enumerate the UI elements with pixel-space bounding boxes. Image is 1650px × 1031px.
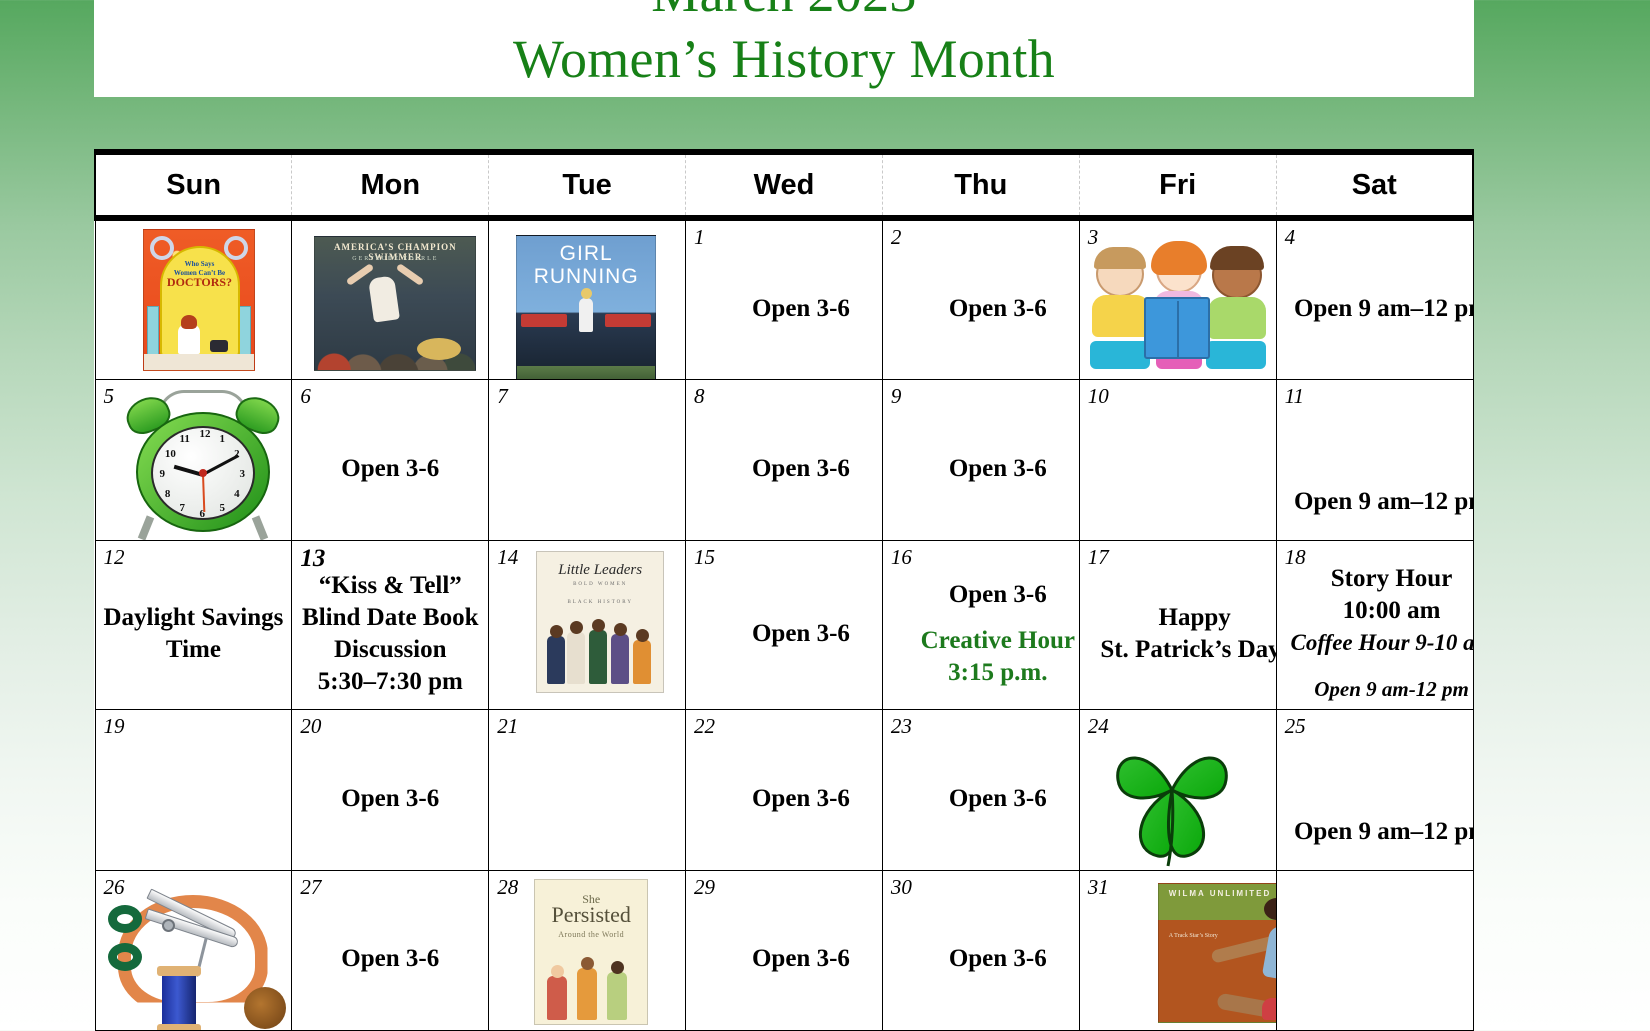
title-theme: Women’s History Month: [94, 26, 1474, 92]
event-text: Open 3-6: [752, 618, 850, 650]
day-number: 6: [300, 384, 311, 409]
weekday-header-sat: Sat: [1276, 152, 1473, 218]
weekday-header-fri: Fri: [1079, 152, 1276, 218]
calendar-day-cell-empty[interactable]: [1276, 870, 1473, 1031]
day-number: 5: [104, 384, 115, 409]
calendar-day-cell-19[interactable]: 19: [95, 709, 292, 870]
calendar-grid: SunMonTueWedThuFriSat Who SaysWomen Can’…: [94, 149, 1474, 1031]
day-events: Open 3-6: [883, 710, 1079, 870]
day-number: 12: [104, 545, 125, 570]
event-text: Open 3-6: [949, 579, 1047, 611]
calendar-day-cell-29[interactable]: 29Open 3-6: [686, 870, 883, 1031]
day-events: Open 9 am–12 pm: [1277, 221, 1473, 379]
calendar-day-cell-2[interactable]: 2Open 3-6: [882, 218, 1079, 379]
calendar-day-cell-11[interactable]: 11Open 9 am–12 pm: [1276, 379, 1473, 540]
day-number: 28: [497, 875, 518, 900]
event-text: Open 9 am-12 pm: [1314, 673, 1469, 705]
day-events: Open 3-6: [883, 871, 1079, 1031]
calendar-day-cell-31[interactable]: 31 WILMA UNLIMITEDA Track Star’s Story: [1079, 870, 1276, 1031]
day-events: Open 3-6: [883, 380, 1079, 540]
book-cover-who-says-women-cant-be-doctors: Who SaysWomen Can’t BeDOCTORS?: [143, 229, 255, 371]
event-text: Open 9 am–12 pm: [1294, 293, 1473, 325]
day-events: Open 3-6: [686, 541, 882, 709]
calendar-day-cell-12[interactable]: 12Daylight SavingsTime: [95, 540, 292, 709]
calendar-week-row: Who SaysWomen Can’t BeDOCTORS? AMERICA’S…: [95, 218, 1473, 379]
calendar-day-cell-25[interactable]: 25Open 9 am–12 pm: [1276, 709, 1473, 870]
event-text: Open 3-6: [341, 783, 439, 815]
event-text: Open 3-6: [752, 943, 850, 975]
event-text: Open 3-6: [949, 783, 1047, 815]
sewing-supplies-clipart: [100, 881, 292, 1031]
day-number: 17: [1088, 545, 1109, 570]
calendar-day-cell-8[interactable]: 8Open 3-6: [686, 379, 883, 540]
event-text: Open 3-6: [341, 453, 439, 485]
event-text: St. Patrick’s Day!: [1100, 634, 1276, 666]
calendar-day-cell-24[interactable]: 24: [1079, 709, 1276, 870]
event-text: Discussion: [334, 634, 447, 666]
day-events: Open 3-6: [686, 710, 882, 870]
day-number: 18: [1285, 545, 1306, 570]
day-number: 14: [497, 545, 518, 570]
calendar-day-cell-20[interactable]: 20Open 3-6: [292, 709, 489, 870]
day-number: 4: [1285, 225, 1296, 250]
calendar-day-cell-1[interactable]: 1Open 3-6: [686, 218, 883, 379]
event-text: Daylight Savings: [103, 602, 283, 634]
calendar-day-cell-14[interactable]: 14 Little Leaders BOLD WOMENBLACK HISTOR…: [489, 540, 686, 709]
event-text: 5:30–7:30 pm: [318, 666, 463, 698]
event-text: 10:00 am: [1343, 595, 1441, 627]
calendar-day-cell-7[interactable]: 7: [489, 379, 686, 540]
event-text: Open 3-6: [752, 783, 850, 815]
calendar-day-cell-4[interactable]: 4Open 9 am–12 pm: [1276, 218, 1473, 379]
day-events: Open 3-6: [292, 380, 488, 540]
day-events: Open 3-6: [883, 221, 1079, 379]
event-text: Open 9 am–12 pm: [1294, 816, 1473, 848]
day-events: Open 9 am–12 pm: [1277, 710, 1473, 870]
book-cover-americas-champion-swimmer: AMERICA’S CHAMPION SWIMMERGERTRUDE EDERL…: [314, 236, 476, 371]
event-text: “Kiss & Tell”: [319, 570, 462, 602]
calendar-day-cell-30[interactable]: 30Open 3-6: [882, 870, 1079, 1031]
day-number: 8: [694, 384, 705, 409]
day-number: 30: [891, 875, 912, 900]
day-number: 26: [104, 875, 125, 900]
calendar-day-cell-22[interactable]: 22Open 3-6: [686, 709, 883, 870]
day-number: 10: [1088, 384, 1109, 409]
day-number: 13: [300, 545, 325, 573]
calendar-week-row: 12Daylight SavingsTime13“Kiss & Tell”Bli…: [95, 540, 1473, 709]
weekday-header-wed: Wed: [686, 152, 883, 218]
kids-reading-clipart: [1086, 227, 1274, 375]
shamrock-clipart: [1092, 718, 1252, 868]
day-events: Open 3-6: [686, 221, 882, 379]
calendar-day-cell-21[interactable]: 21: [489, 709, 686, 870]
event-text: Open 3-6: [949, 453, 1047, 485]
day-number: 7: [497, 384, 508, 409]
calendar-day-cell-empty[interactable]: AMERICA’S CHAMPION SWIMMERGERTRUDE EDERL…: [292, 218, 489, 379]
calendar-day-cell-empty[interactable]: Who SaysWomen Can’t BeDOCTORS?: [95, 218, 292, 379]
calendar-day-cell-28[interactable]: 28 She Persisted Around the World: [489, 870, 686, 1031]
calendar-title-panel: March 2023 Women’s History Month: [94, 0, 1474, 97]
event-text: 3:15 p.m.: [948, 657, 1047, 689]
calendar-day-cell-26[interactable]: 26: [95, 870, 292, 1031]
event-text: Open 3-6: [949, 943, 1047, 975]
calendar-day-cell-16[interactable]: 16Open 3-6Creative Hour3:15 p.m.: [882, 540, 1079, 709]
book-cover-wilma-unlimited: WILMA UNLIMITEDA Track Star’s Story: [1158, 883, 1276, 1023]
alarm-clock-clipart: 121234567891011: [120, 388, 286, 538]
day-number: 9: [891, 384, 902, 409]
day-number: 24: [1088, 714, 1109, 739]
day-events: HappySt. Patrick’s Day!: [1080, 541, 1276, 709]
day-number: 2: [891, 225, 902, 250]
book-cover-she-persisted-around-the-world: She Persisted Around the World: [534, 879, 648, 1025]
event-text: Coffee Hour 9-10 am: [1290, 627, 1473, 659]
calendar-day-cell-27[interactable]: 27Open 3-6: [292, 870, 489, 1031]
event-text: Open 3-6: [752, 293, 850, 325]
calendar-day-cell-15[interactable]: 15Open 3-6: [686, 540, 883, 709]
event-text: Open 3-6: [949, 293, 1047, 325]
day-number: 29: [694, 875, 715, 900]
day-events: Open 3-6: [292, 871, 488, 1031]
day-number: 3: [1088, 225, 1099, 250]
day-number: 31: [1088, 875, 1109, 900]
day-number: 22: [694, 714, 715, 739]
book-cover-girl-running: GIRLRUNNING: [516, 235, 656, 379]
weekday-header-sun: Sun: [95, 152, 292, 218]
event-text: Happy: [1159, 602, 1231, 634]
calendar-day-cell-5[interactable]: 5 121234567891011: [95, 379, 292, 540]
day-number: 20: [300, 714, 321, 739]
event-text: Time: [166, 634, 221, 666]
calendar-day-cell-empty[interactable]: GIRLRUNNING: [489, 218, 686, 379]
day-number: 19: [104, 714, 125, 739]
weekday-header-thu: Thu: [882, 152, 1079, 218]
event-text: Open 3-6: [341, 943, 439, 975]
calendar-day-cell-6[interactable]: 6Open 3-6: [292, 379, 489, 540]
calendar-day-cell-13[interactable]: 13“Kiss & Tell”Blind Date BookDiscussion…: [292, 540, 489, 709]
day-number: 1: [694, 225, 705, 250]
day-number: 16: [891, 545, 912, 570]
calendar-day-cell-18[interactable]: 18Story Hour10:00 amCoffee Hour 9-10 amO…: [1276, 540, 1473, 709]
weekday-header-mon: Mon: [292, 152, 489, 218]
day-events: Open 3-6: [686, 871, 882, 1031]
calendar-week-row: 26 27Open 3-628 She Persisted Around the…: [95, 870, 1473, 1031]
day-number: 21: [497, 714, 518, 739]
day-number: 11: [1285, 384, 1304, 409]
day-number: 23: [891, 714, 912, 739]
event-text: Open 3-6: [752, 453, 850, 485]
day-events: Open 9 am–12 pm: [1277, 380, 1473, 540]
event-text: Creative Hour: [921, 625, 1075, 657]
day-events: Open 3-6: [292, 710, 488, 870]
event-text: Open 9 am–12 pm: [1294, 486, 1473, 518]
calendar-body: Who SaysWomen Can’t BeDOCTORS? AMERICA’S…: [95, 218, 1473, 1031]
event-text: Story Hour: [1331, 563, 1453, 595]
calendar-day-cell-10[interactable]: 10: [1079, 379, 1276, 540]
day-number: 15: [694, 545, 715, 570]
weekday-header-tue: Tue: [489, 152, 686, 218]
day-number: 25: [1285, 714, 1306, 739]
calendar-week-row: 1920Open 3-62122Open 3-623Open 3-624 25O…: [95, 709, 1473, 870]
event-text: Blind Date Book: [302, 602, 478, 634]
calendar-weekday-header-row: SunMonTueWedThuFriSat: [95, 152, 1473, 218]
day-events: Open 3-6: [686, 380, 882, 540]
calendar-week-row: 5 121234567891011 6Open 3-678Open 3-69Op…: [95, 379, 1473, 540]
day-events: Open 3-6Creative Hour3:15 p.m.: [883, 541, 1079, 709]
calendar-day-cell-17[interactable]: 17HappySt. Patrick’s Day!: [1079, 540, 1276, 709]
calendar-day-cell-3[interactable]: 3: [1079, 218, 1276, 379]
day-number: 27: [300, 875, 321, 900]
calendar-day-cell-23[interactable]: 23Open 3-6: [882, 709, 1079, 870]
calendar-day-cell-9[interactable]: 9Open 3-6: [882, 379, 1079, 540]
title-month-year: March 2023: [94, 0, 1474, 26]
book-cover-little-leaders: Little Leaders BOLD WOMENBLACK HISTORY: [536, 551, 664, 693]
